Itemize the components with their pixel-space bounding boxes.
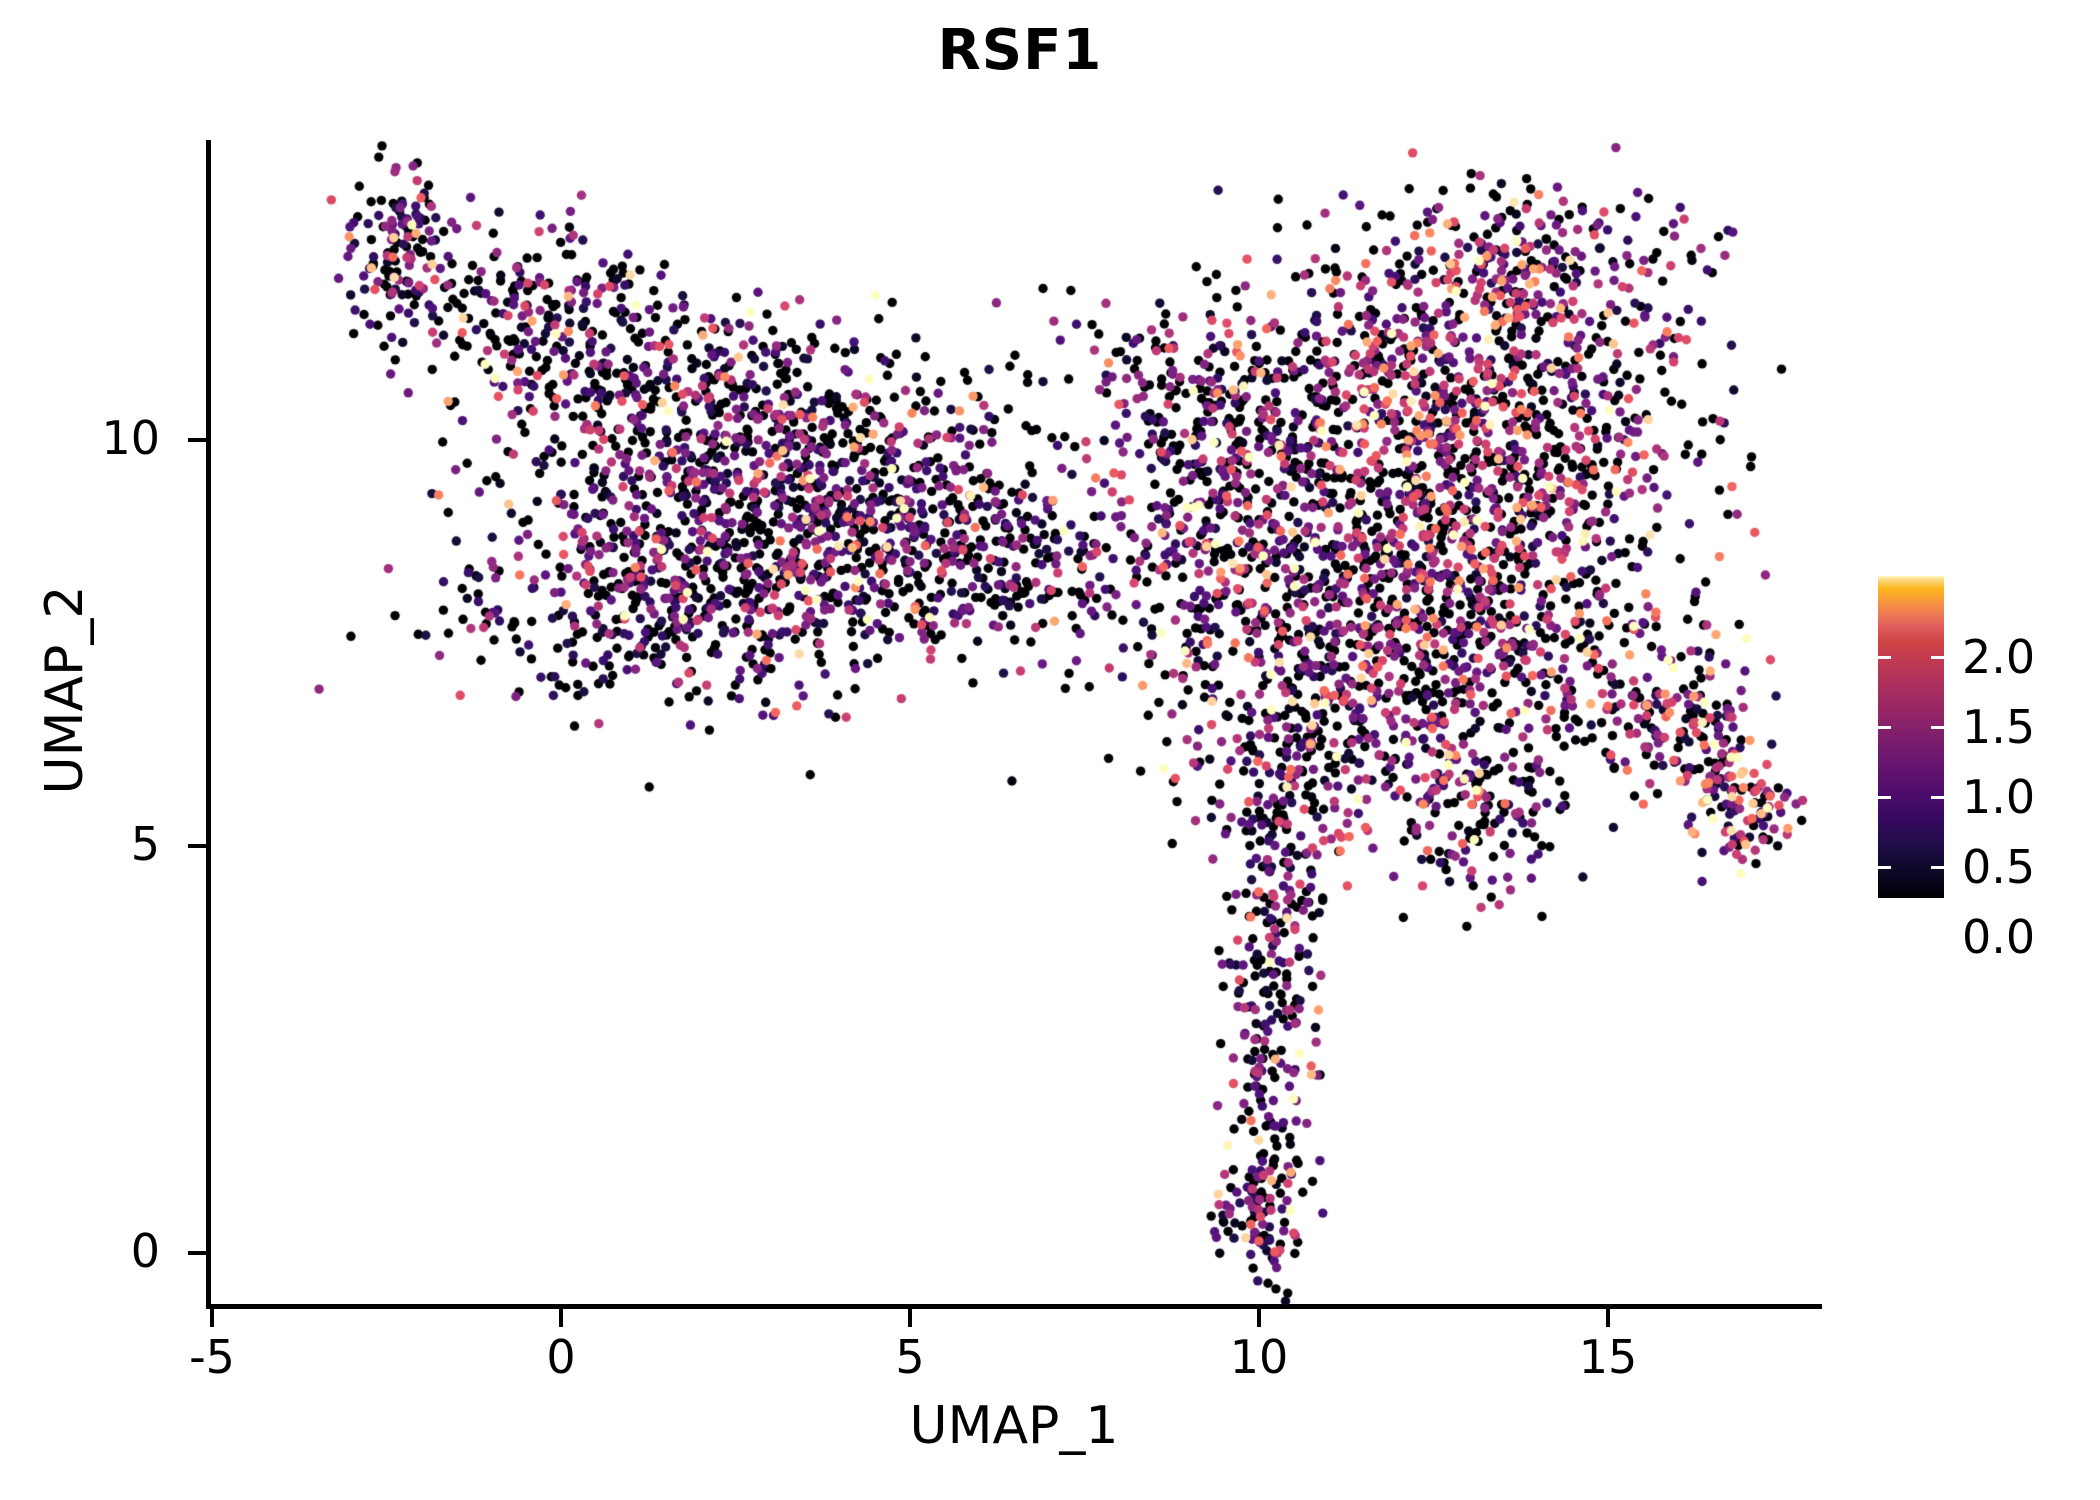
scatter-points-canvas (212, 140, 1820, 1308)
x-tick-label-5: 5 (830, 1334, 990, 1380)
y-tick-label-0: 0 (40, 1228, 160, 1274)
colorbar-tick-0.5-right (1931, 866, 1944, 869)
colorbar-tick-1.5-right (1931, 726, 1944, 729)
colorbar-label-2.0: 2.0 (1962, 634, 2100, 680)
y-axis-spine (206, 140, 211, 1308)
x-tick-mark-0 (559, 1309, 563, 1327)
x-tick-label-0: 0 (481, 1334, 641, 1380)
colorbar-tick-1.0-left (1878, 796, 1891, 799)
umap-feature-plot-figure: RSF1 0 5 10 -5 0 5 10 15 UMAP_1 UMAP_2 2… (0, 0, 2100, 1500)
x-tick-label-15: 15 (1528, 1334, 1688, 1380)
colorbar-label-0.0: 0.0 (1962, 914, 2100, 960)
page-title: RSF1 (0, 18, 2040, 83)
x-tick-label-minus5: -5 (132, 1334, 292, 1380)
colorbar-gradient (1878, 576, 1944, 898)
y-tick-mark-10 (188, 438, 206, 442)
colorbar-tick-0.5-left (1878, 866, 1891, 869)
y-tick-mark-5 (188, 844, 206, 848)
x-tick-mark-minus5 (210, 1309, 214, 1327)
plot-area (212, 140, 1820, 1308)
x-tick-label-10: 10 (1179, 1334, 1339, 1380)
x-axis-label: UMAP_1 (206, 1396, 1822, 1456)
colorbar-label-1.0: 1.0 (1962, 774, 2100, 820)
colorbar-tick-2.0-left (1878, 656, 1891, 659)
colorbar-label-0.5: 0.5 (1962, 844, 2100, 890)
colorbar: 2.0 1.5 1.0 0.5 0.0 (1878, 576, 2078, 906)
x-tick-mark-5 (908, 1309, 912, 1327)
colorbar-tick-1.5-left (1878, 726, 1891, 729)
y-tick-mark-0 (188, 1251, 206, 1255)
x-tick-mark-10 (1257, 1309, 1261, 1327)
colorbar-label-1.5: 1.5 (1962, 704, 2100, 750)
x-tick-mark-15 (1606, 1309, 1610, 1327)
colorbar-tick-1.0-right (1931, 796, 1944, 799)
colorbar-tick-2.0-right (1931, 656, 1944, 659)
y-axis-label: UMAP_2 (35, 340, 95, 1040)
